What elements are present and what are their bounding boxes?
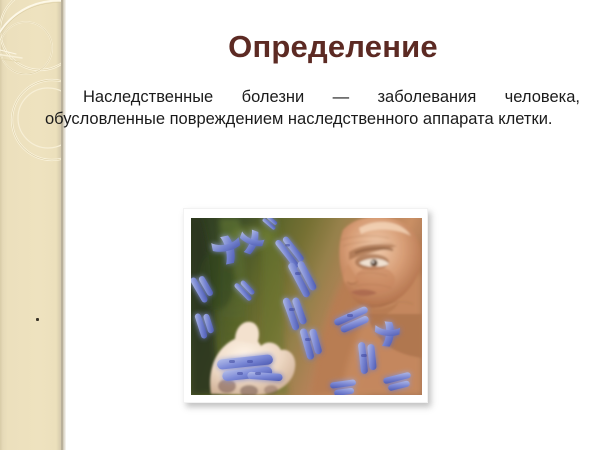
slide-image-frame [183, 208, 428, 403]
band-edge-highlight [63, 0, 66, 450]
slide-body-text: Наследственные болезни — заболевания чел… [45, 86, 580, 130]
slide-title: Определение [66, 28, 600, 66]
slide-canvas: Определение Наследственные болезни — заб… [0, 0, 600, 450]
slide-image-chromosomes-and-face [191, 218, 422, 395]
left-decorative-band [0, 0, 63, 450]
bullet-dot-marker [36, 318, 39, 321]
band-arcs-decoration [0, 0, 63, 170]
